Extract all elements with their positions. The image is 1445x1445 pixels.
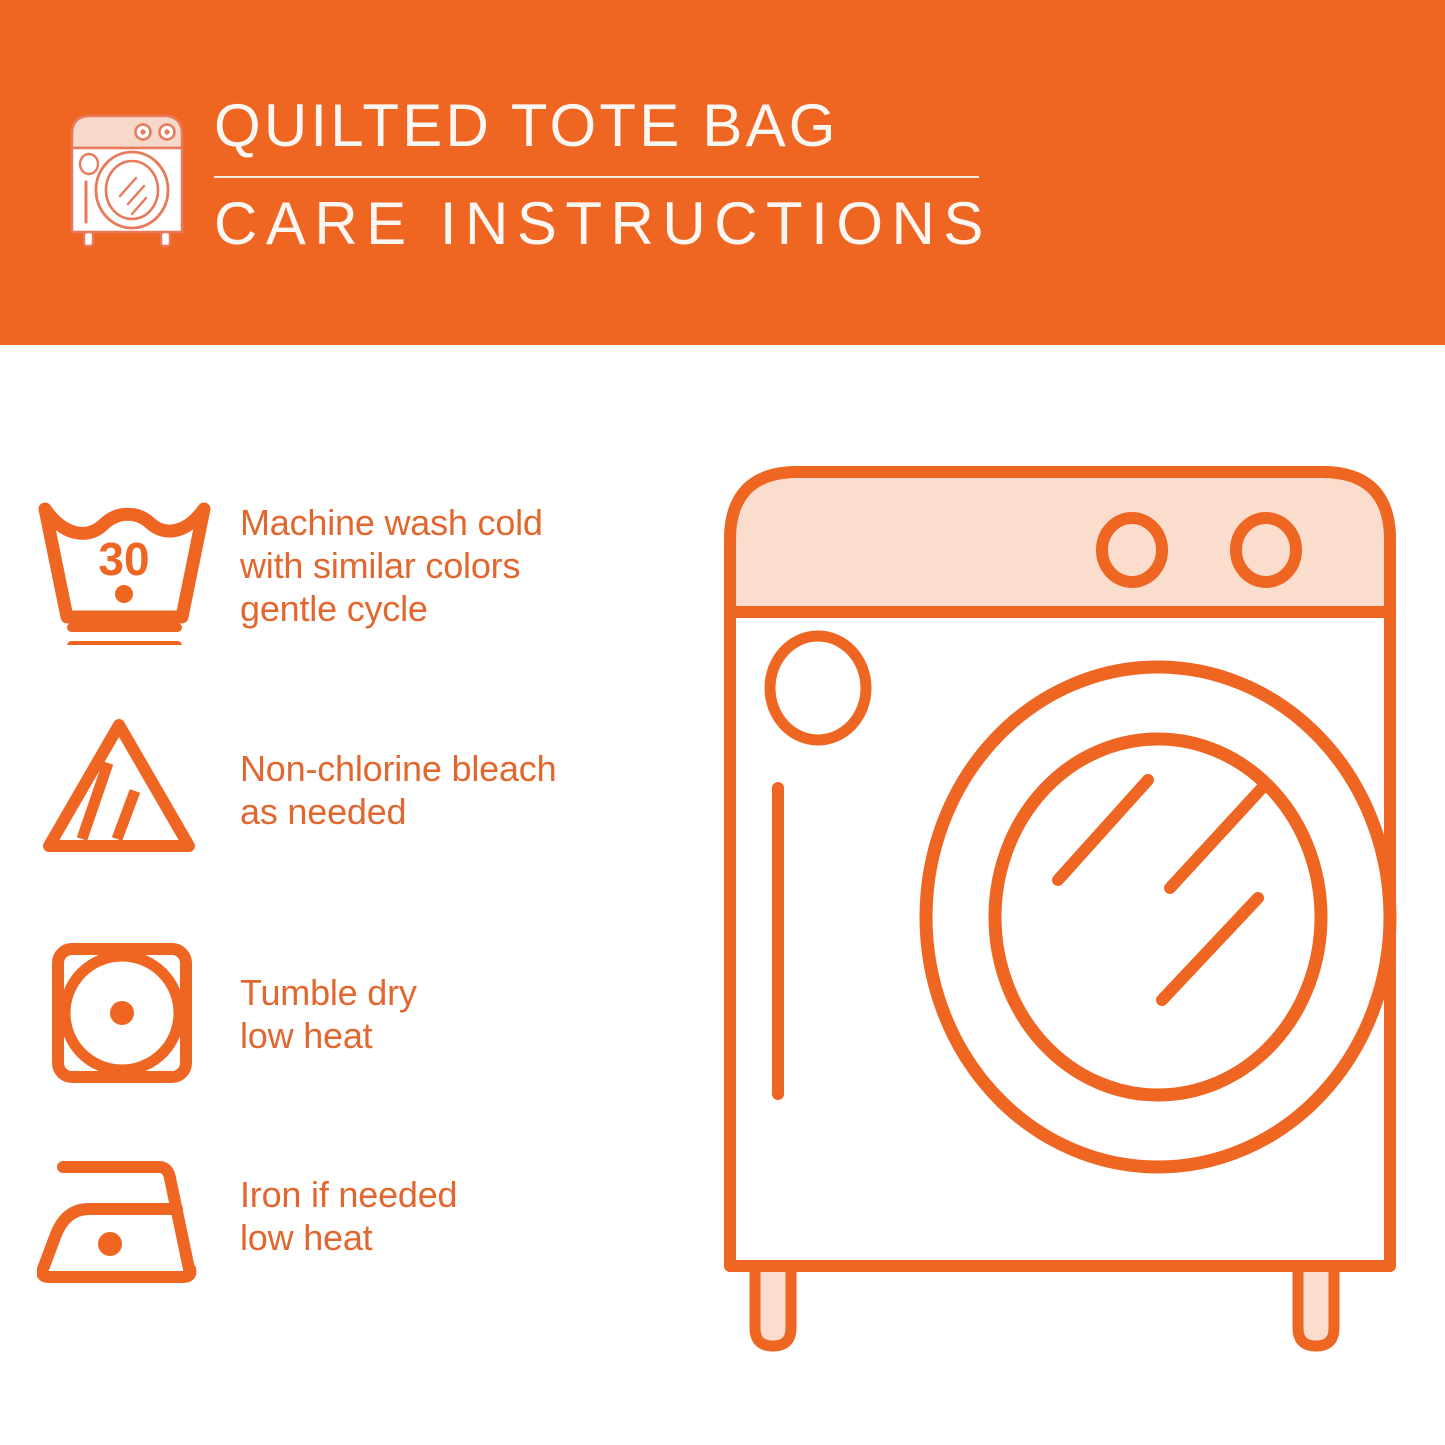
care-row: Iron if needed low heat bbox=[0, 1145, 700, 1295]
large-washing-machine-illustration bbox=[700, 440, 1420, 1400]
page-title: QUILTED TOTE BAG bbox=[212, 96, 1002, 156]
tumble-dry-low-icon bbox=[0, 937, 240, 1087]
care-instruction-text: Machine wash cold with similar colors ge… bbox=[240, 495, 543, 630]
care-row: 30 Machine wash cold with similar colors… bbox=[0, 495, 700, 645]
page-subtitle: CARE INSTRUCTIONS bbox=[212, 194, 1002, 254]
title-divider bbox=[214, 176, 979, 178]
wash-temperature-label: 30 bbox=[98, 533, 149, 585]
washing-machine-icon bbox=[62, 104, 192, 249]
iron-low-heat-icon bbox=[0, 1145, 240, 1295]
care-instruction-text: Iron if needed low heat bbox=[240, 1145, 457, 1259]
header-title-group: QUILTED TOTE BAG CARE INSTRUCTIONS bbox=[212, 96, 1002, 254]
care-instruction-text: Tumble dry low heat bbox=[240, 937, 417, 1057]
machine-wash-30-gentle-icon: 30 bbox=[0, 495, 240, 645]
care-instruction-list: 30 Machine wash cold with similar colors… bbox=[0, 345, 700, 1445]
non-chlorine-bleach-triangle-icon bbox=[0, 713, 240, 863]
care-row: Non-chlorine bleach as needed bbox=[0, 713, 700, 863]
header-banner: QUILTED TOTE BAG CARE INSTRUCTIONS bbox=[0, 0, 1445, 345]
care-instruction-text: Non-chlorine bleach as needed bbox=[240, 713, 556, 833]
care-row: Tumble dry low heat bbox=[0, 937, 700, 1087]
